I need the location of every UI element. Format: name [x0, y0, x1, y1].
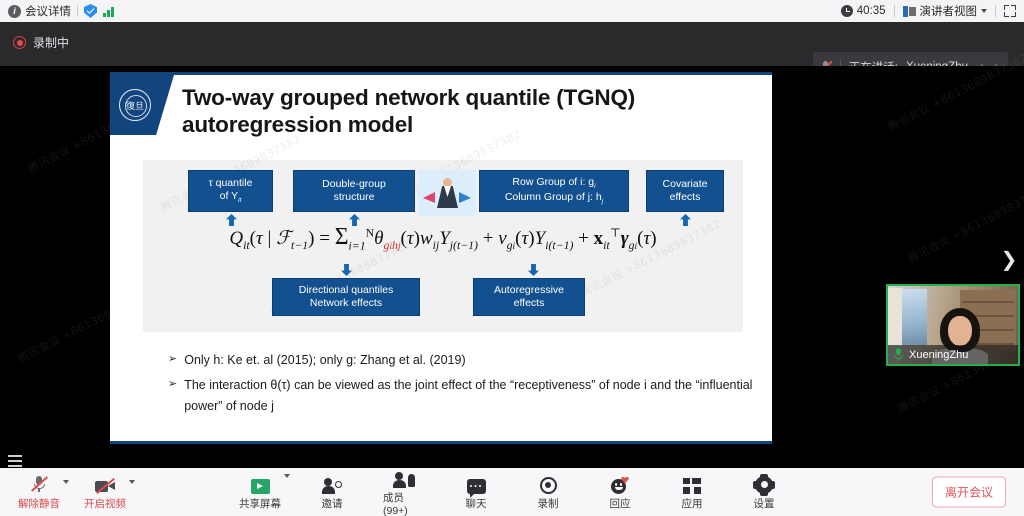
callout-line1-sub: i [594, 183, 595, 190]
record-label: 录制 [538, 496, 559, 511]
toolbar-left-group: 解除静音 开启视频 [0, 474, 126, 511]
callout-autoregressive-effects: Autoregressive effects [473, 278, 585, 316]
record-button[interactable]: 录制 [527, 468, 569, 516]
callout-covariate-effects: Covariate effects [646, 170, 724, 212]
divider [77, 5, 78, 17]
settings-button[interactable]: 设置 [743, 468, 785, 516]
chevron-up-icon[interactable] [63, 480, 69, 484]
fullscreen-icon[interactable] [1004, 5, 1016, 17]
apps-label: 应用 [682, 496, 703, 511]
callout-line2: effects [670, 191, 701, 203]
video-background-curtain [888, 288, 902, 346]
illustration-left-arrow [423, 192, 435, 203]
recording-indicator[interactable]: 录制中 [13, 34, 69, 51]
bullet-text: The interaction θ(τ) can be viewed as th… [184, 375, 758, 416]
layout-icon [903, 6, 916, 17]
illustration-right-arrow [459, 192, 471, 203]
unmute-button[interactable]: 解除静音 [18, 474, 60, 511]
clock-icon [841, 5, 853, 17]
reactions-label: 回应 [610, 496, 631, 511]
shared-screen-stage: 腾讯会议 +8613689837382 腾讯会议 +8613689837382 … [0, 66, 1024, 468]
callout-line1: Row Group of i: g [512, 176, 594, 188]
participants-icon [394, 468, 415, 488]
camera-off-icon [95, 474, 115, 494]
callout-tau-quantile: τ quantile of Yit [188, 170, 273, 212]
top-system-bar: i 会议详情 40:35 演讲者视图 [0, 0, 1024, 22]
settings-gear-icon [755, 474, 773, 494]
callout-line2-sub: it [238, 197, 241, 204]
chat-button[interactable]: 聊天 [455, 468, 497, 516]
illustration-head [443, 178, 452, 187]
presentation-slide: 復旦 Two-way grouped network quantile (TGN… [110, 72, 772, 444]
callout-line2: of Y [220, 190, 239, 202]
meeting-toolbar: 解除静音 开启视频 共享屏幕 邀请 成员(99+) 聊天 [0, 468, 1024, 516]
start-video-button[interactable]: 开启视频 [84, 474, 126, 511]
arrow-down-icon [528, 264, 539, 276]
bullet-marker: ➢ [168, 375, 177, 416]
settings-label: 设置 [754, 496, 775, 511]
logo-text: 復旦 [120, 90, 150, 120]
callout-line1: Autoregressive [494, 284, 564, 296]
apps-button[interactable]: 应用 [671, 468, 713, 516]
share-screen-button[interactable]: 共享屏幕 [239, 468, 281, 516]
view-mode-label: 演讲者视图 [920, 3, 978, 19]
list-item: ➢ Only h: Ke et. al (2015); only g: Zhan… [168, 350, 758, 370]
bullet-text: Only h: Ke et. al (2015); only g: Zhang … [184, 350, 465, 370]
reactions-icon [611, 474, 629, 494]
slide-title: Two-way grouped network quantile (TGNQ) … [182, 84, 742, 139]
chevron-up-icon[interactable] [284, 474, 290, 478]
topbar-right-group: 40:35 演讲者视图 [841, 3, 1016, 19]
divider [894, 5, 895, 17]
formula-diagram-panel: 腾讯会议 +8613689837382 腾讯会议 +8613689837382 … [143, 160, 743, 332]
callout-line1: Directional quantiles [299, 284, 394, 296]
info-icon: i [8, 5, 21, 18]
callout-line1: Covariate [663, 178, 708, 190]
invite-label: 邀请 [322, 496, 343, 511]
chat-icon [467, 474, 486, 494]
invite-icon [323, 474, 342, 494]
share-screen-icon [251, 474, 270, 494]
start-video-label: 开启视频 [84, 496, 126, 511]
record-dot-icon [13, 36, 26, 49]
share-screen-label: 共享屏幕 [239, 496, 281, 511]
mic-on-icon [893, 348, 904, 361]
meeting-timer: 40:35 [841, 5, 886, 17]
divider [995, 5, 996, 17]
chevron-up-icon[interactable] [129, 480, 135, 484]
toolbar-center-group: 共享屏幕 邀请 成员(99+) 聊天 录制 回应 应用 设置 [239, 468, 785, 516]
callout-line2: effects [514, 297, 545, 309]
view-mode-selector[interactable]: 演讲者视图 [903, 3, 988, 19]
slide-bottom-rule [110, 441, 772, 444]
slide-bullet-list: ➢ Only h: Ke et. al (2015); only g: Zhan… [168, 350, 758, 421]
callout-row-column-group: Row Group of i: gi Column Group of j: hj [479, 170, 629, 212]
group-illustration [418, 170, 476, 216]
callout-line2: Network effects [310, 297, 382, 309]
leave-meeting-button[interactable]: 离开会议 [932, 477, 1006, 508]
list-item: ➢ The interaction θ(τ) can be viewed as … [168, 375, 758, 416]
university-logo: 復旦 [119, 89, 151, 121]
encryption-shield-icon[interactable] [84, 4, 97, 18]
network-signal-icon[interactable] [103, 6, 114, 17]
bullet-marker: ➢ [168, 350, 177, 370]
callout-line2: Column Group of j: h [505, 191, 602, 203]
slide-top-rule [110, 72, 772, 75]
participant-name-badge: XueningZhu [888, 345, 1018, 364]
callout-directional-quantiles: Directional quantiles Network effects [272, 278, 420, 316]
meeting-details-label: 会议详情 [25, 3, 71, 19]
next-slide-button[interactable]: ❯ [1000, 248, 1018, 270]
participants-label: 成员(99+) [383, 490, 425, 516]
mic-muted-icon [31, 474, 47, 494]
unmute-label: 解除静音 [18, 496, 60, 511]
participant-name: XueningZhu [909, 349, 968, 361]
chevron-down-icon [981, 9, 987, 13]
callout-line1: Double-group [322, 178, 386, 190]
chat-label: 聊天 [466, 496, 487, 511]
callout-double-group: Double-group structure [293, 170, 415, 212]
topbar-left-group: i 会议详情 [8, 3, 114, 19]
callout-line2: structure [334, 191, 375, 203]
record-icon [540, 474, 557, 494]
timer-label: 40:35 [857, 5, 886, 17]
model-formula: Qit(τ | ℱt−1) = Σi=1Nθgihj(τ)wijYj(t−1) … [163, 224, 723, 253]
meeting-status-bar: 录制中 正在讲话: XueningZhu [0, 22, 1024, 66]
meeting-details-button[interactable]: i 会议详情 [8, 3, 71, 19]
apps-icon [683, 474, 701, 494]
participants-button[interactable]: 成员(99+) [383, 468, 425, 516]
reactions-button[interactable]: 回应 [599, 468, 641, 516]
recording-label: 录制中 [33, 34, 69, 51]
participant-video-thumbnail[interactable]: XueningZhu [886, 284, 1020, 366]
callout-line1: τ quantile [209, 177, 253, 189]
callout-line2-sub: j [602, 198, 603, 205]
invite-button[interactable]: 邀请 [311, 468, 353, 516]
